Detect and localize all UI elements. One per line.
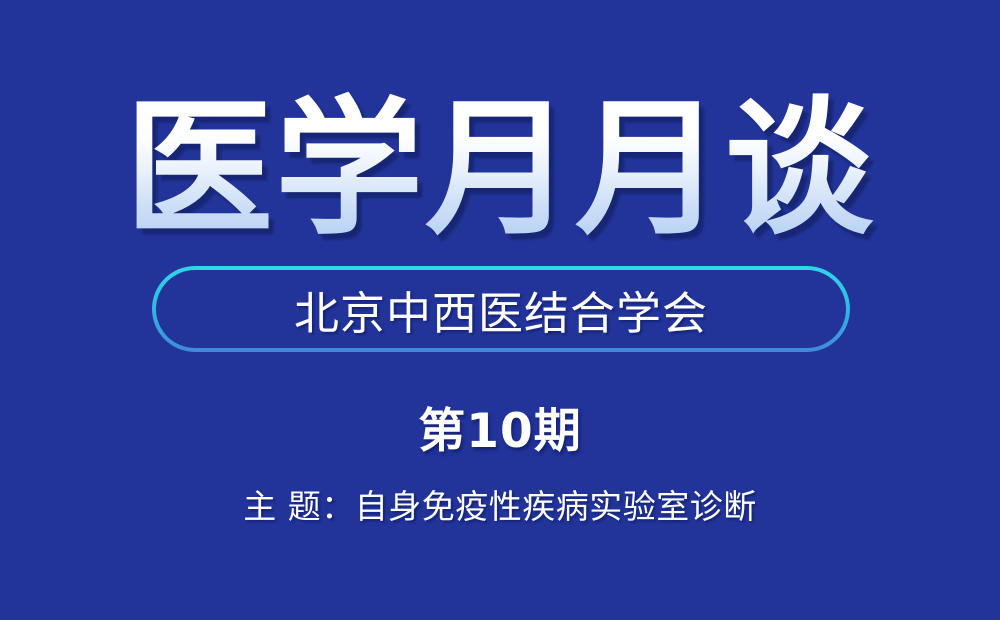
topic-line: 主 题：自身免疫性疾病实验室诊断 bbox=[0, 480, 1000, 528]
main-title-text: 医学月月谈 bbox=[125, 81, 875, 255]
issue-number: 第10期 bbox=[0, 392, 1000, 461]
poster-canvas: 医学月月谈 医学月月谈 北京中西医结合学会 第10期 主 题：自身免疫性疾病实验… bbox=[0, 0, 1000, 620]
main-title: 医学月月谈 医学月月谈 bbox=[125, 94, 875, 242]
main-title-block: 医学月月谈 医学月月谈 bbox=[0, 88, 1000, 248]
organization-name: 北京中西医结合学会 bbox=[294, 277, 708, 342]
organization-badge: 北京中西医结合学会 bbox=[152, 266, 850, 352]
